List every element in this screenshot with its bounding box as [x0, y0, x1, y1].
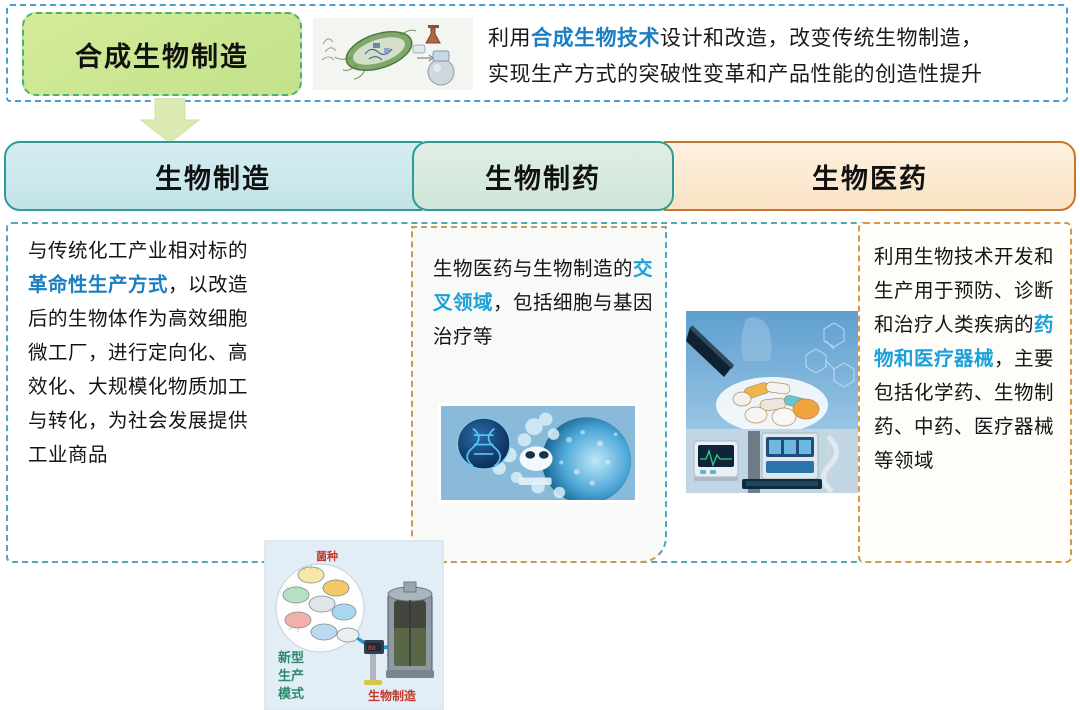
left-text-post: ，以改造后的生物体作为高效细胞微工厂，进行定向化、高效化、大规模化物质加工与转化… — [28, 273, 248, 466]
tab-biopharmaceutical-manufacturing-label: 生物制药 — [485, 157, 601, 196]
title-badge: 合成生物制造 — [22, 12, 302, 96]
header-desc-post: 设计和改造，改变传统生物制造， — [660, 26, 983, 50]
right-text-pre: 利用生物技术开发和生产用于预防、诊断和治疗人类疾病的 — [874, 245, 1054, 336]
tab-biopharmaceutical-manufacturing[interactable]: 生物制药 — [412, 141, 674, 211]
panel-biomanufacturing-text: 与传统化工产业相对标的革命性生产方式，以改造后的生物体作为高效细胞微工厂，进行定… — [28, 234, 256, 472]
panel-biomedicine: 利用生物技术开发和生产用于预防、诊断和治疗人类疾病的药物和医疗器械，主要包括化学… — [858, 222, 1072, 563]
bioreactor-diagram-image: 菌种 — [264, 540, 444, 710]
tab-biomedicine[interactable]: 生物医药 — [664, 141, 1076, 211]
category-tabbar: 生物制造 生物制药 生物医药 — [4, 141, 1076, 211]
header-description: 利用合成生物技术设计和改造，改变传统生物制造， 实现生产方式的突破性变革和产品性… — [488, 16, 1068, 96]
header-desc-pre: 利用 — [488, 26, 531, 50]
mid-text-pre: 生物医药与生物制造的 — [433, 257, 633, 280]
cell-diagram-image — [313, 18, 473, 90]
svg-text:新型: 新型 — [278, 650, 304, 666]
svg-text:88: 88 — [368, 645, 376, 652]
header-description-line2: 实现生产方式的突破性变革和产品性能的创造性提升 — [488, 56, 1068, 92]
down-arrow-icon — [139, 98, 201, 144]
left-text-pre: 与传统化工产业相对标的 — [28, 239, 248, 262]
panel-biopharmaceutical-manufacturing: 生物医药与生物制造的交叉领域，包括细胞与基因治疗等 — [411, 226, 667, 563]
header-description-line1: 利用合成生物技术设计和改造，改变传统生物制造， — [488, 20, 1068, 56]
cell-microscopy-image — [438, 403, 638, 503]
tab-biomanufacturing-label: 生物制造 — [155, 157, 271, 196]
tab-biomanufacturing[interactable]: 生物制造 — [4, 141, 422, 211]
tab-biomedicine-label: 生物医药 — [812, 157, 928, 196]
header-desc-highlight: 合成生物技术 — [531, 26, 660, 50]
medical-equipment-pills-image — [686, 311, 858, 493]
panel-biomedicine-text: 利用生物技术开发和生产用于预防、诊断和治疗人类疾病的药物和医疗器械，主要包括化学… — [874, 240, 1064, 478]
svg-text:生产: 生产 — [278, 668, 304, 684]
infographic-canvas: 合成生物制造 — [0, 0, 1080, 567]
title-badge-label: 合成生物制造 — [75, 35, 249, 74]
left-text-highlight: 革命性生产方式 — [28, 273, 168, 296]
svg-text:生物制造: 生物制造 — [368, 688, 417, 703]
header-band: 合成生物制造 — [6, 4, 1068, 102]
panel-biopharmaceutical-text: 生物医药与生物制造的交叉领域，包括细胞与基因治疗等 — [433, 252, 655, 354]
svg-text:菌种: 菌种 — [316, 549, 338, 563]
svg-text:模式: 模式 — [278, 686, 304, 702]
